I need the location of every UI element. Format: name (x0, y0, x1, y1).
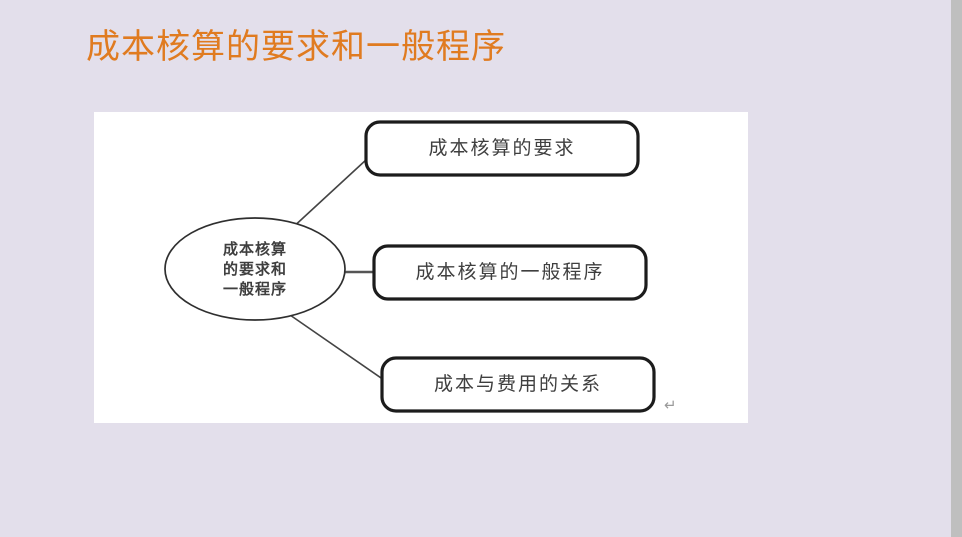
branch-box-3[interactable] (382, 358, 654, 411)
connector-line-branch-1 (290, 159, 367, 230)
page-title: 成本核算的要求和一般程序 (86, 26, 506, 70)
paragraph-mark-icon: ↵ (664, 398, 677, 413)
center-node-ellipse[interactable] (165, 218, 345, 320)
diagram-panel: 成本核算的要求和一般程序 成本核算的要求 成本核算的一般程序 成本与费用的关系 … (94, 112, 748, 423)
mind-map-graphic (94, 112, 748, 423)
branch-box-2[interactable] (374, 246, 646, 299)
connector-line-branch-3 (290, 315, 384, 380)
right-edge-gutter (951, 0, 962, 537)
branch-box-1[interactable] (366, 122, 638, 175)
presentation-slide: 成本核算的要求和一般程序 成本核算的要求和一般程序 成本核算的要求 成本核算的一… (0, 0, 962, 537)
